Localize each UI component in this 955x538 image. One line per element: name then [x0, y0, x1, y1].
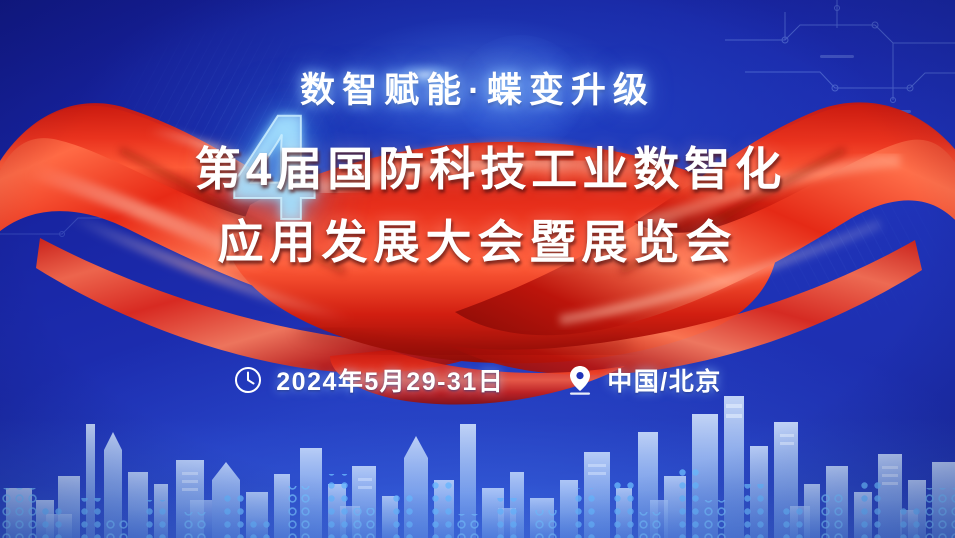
- poster-title: 第4届国防科技工业数智化 应用发展大会暨展览会: [0, 140, 955, 272]
- conference-poster: 4 数智赋能·蝶变升级 第4届国防科技工业数智化 应用发展大会暨展览会 2024…: [0, 0, 955, 538]
- event-location: 中国/北京: [607, 362, 721, 398]
- poster-subtitle: 数智赋能·蝶变升级: [0, 62, 955, 113]
- event-date-item: 2024年5月29-31日: [233, 362, 504, 398]
- location-pin-icon: [566, 364, 594, 396]
- poster-content: 数智赋能·蝶变升级 第4届国防科技工业数智化 应用发展大会暨展览会 2024年5…: [0, 0, 955, 538]
- event-date: 2024年5月29-31日: [276, 362, 504, 398]
- event-location-item: 中国/北京: [566, 362, 721, 398]
- title-line-2: 应用发展大会暨展览会: [0, 213, 955, 272]
- event-info-row: 2024年5月29-31日 中国/北京: [0, 362, 955, 398]
- title-line-1: 第4届国防科技工业数智化: [0, 140, 955, 199]
- clock-icon: [233, 365, 263, 395]
